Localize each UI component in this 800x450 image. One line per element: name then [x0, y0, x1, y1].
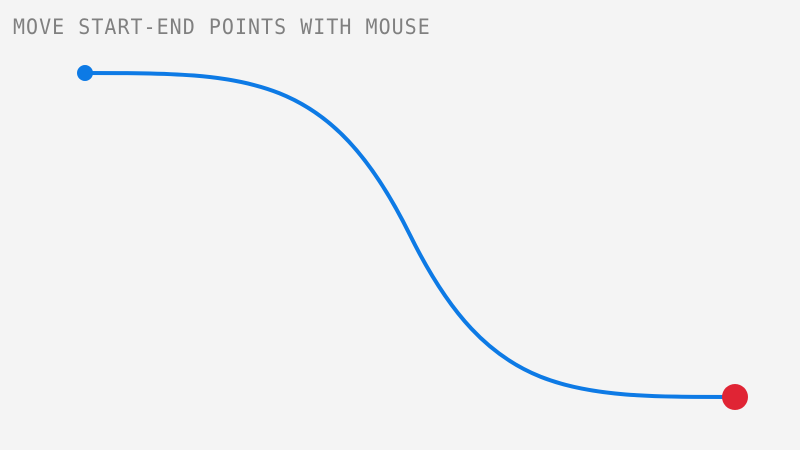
curve-canvas[interactable]: [0, 0, 800, 450]
curve-editor-app: MOVE START-END POINTS WITH MOUSE: [0, 0, 800, 450]
start-point-handle[interactable]: [77, 65, 93, 81]
end-point-handle[interactable]: [722, 384, 748, 410]
canvas-background: [0, 0, 800, 450]
